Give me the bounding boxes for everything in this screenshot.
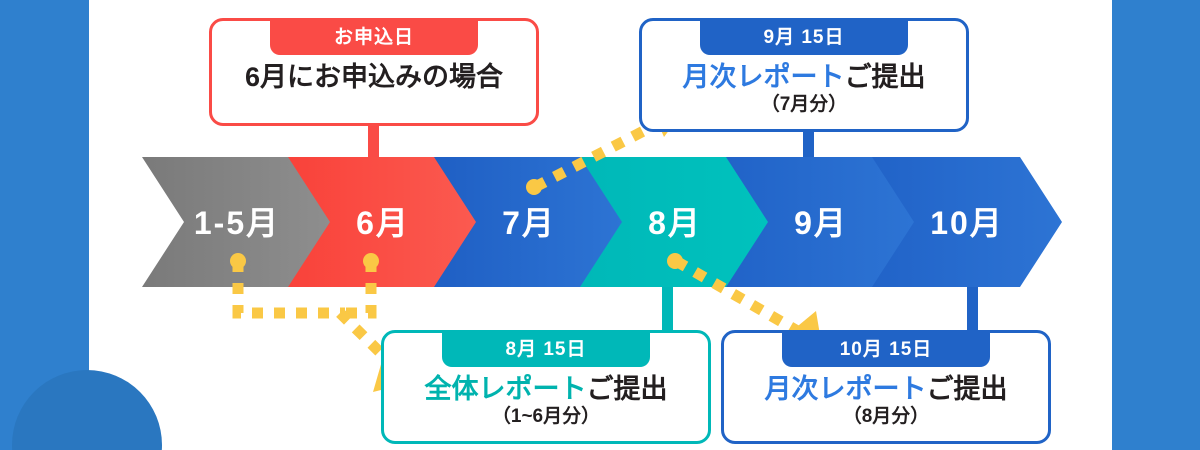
connector-pin	[230, 253, 246, 269]
callout-body: 全体レポートご提出	[384, 374, 708, 405]
callout-subtext: （8月分）	[724, 406, 1048, 428]
callout-body-accent: 全体レポート	[425, 374, 587, 404]
callout-subtext: （1~6月分）	[384, 406, 708, 428]
callout-body-accent: 月次レポート	[765, 374, 927, 404]
connector-pin	[526, 179, 542, 195]
callout-application-date[interactable]: お申込日 6月にお申込みの場合	[209, 18, 539, 126]
timeline-infographic: 1-5月 6月 7月 8月 9月 10月	[0, 0, 1200, 450]
callout-header: 8月 15日	[442, 333, 650, 367]
connector-pin	[363, 253, 379, 269]
callout-body-accent: 月次レポート	[683, 62, 845, 92]
callout-body-text: ご提出	[927, 374, 1008, 404]
callout-body-text: 6月にお申込みの場合	[245, 62, 503, 92]
callout-header: 10月 15日	[782, 333, 990, 367]
callout-subtext: （7月分）	[642, 94, 966, 116]
callout-full-report[interactable]: 8月 15日 全体レポートご提出 （1~6月分）	[381, 330, 711, 444]
callout-monthly-report-august[interactable]: 10月 15日 月次レポートご提出 （8月分）	[721, 330, 1051, 444]
callout-header: 9月 15日	[700, 21, 908, 55]
callout-body-text: ご提出	[845, 62, 926, 92]
callout-header: お申込日	[270, 21, 478, 55]
connector-pin	[667, 253, 683, 269]
callout-body: 月次レポートご提出	[724, 374, 1048, 405]
callout-body-text: ご提出	[587, 374, 668, 404]
callout-body: 月次レポートご提出	[642, 62, 966, 93]
callout-monthly-report-july[interactable]: 9月 15日 月次レポートご提出 （7月分）	[639, 18, 969, 132]
callout-body: 6月にお申込みの場合	[212, 62, 536, 93]
